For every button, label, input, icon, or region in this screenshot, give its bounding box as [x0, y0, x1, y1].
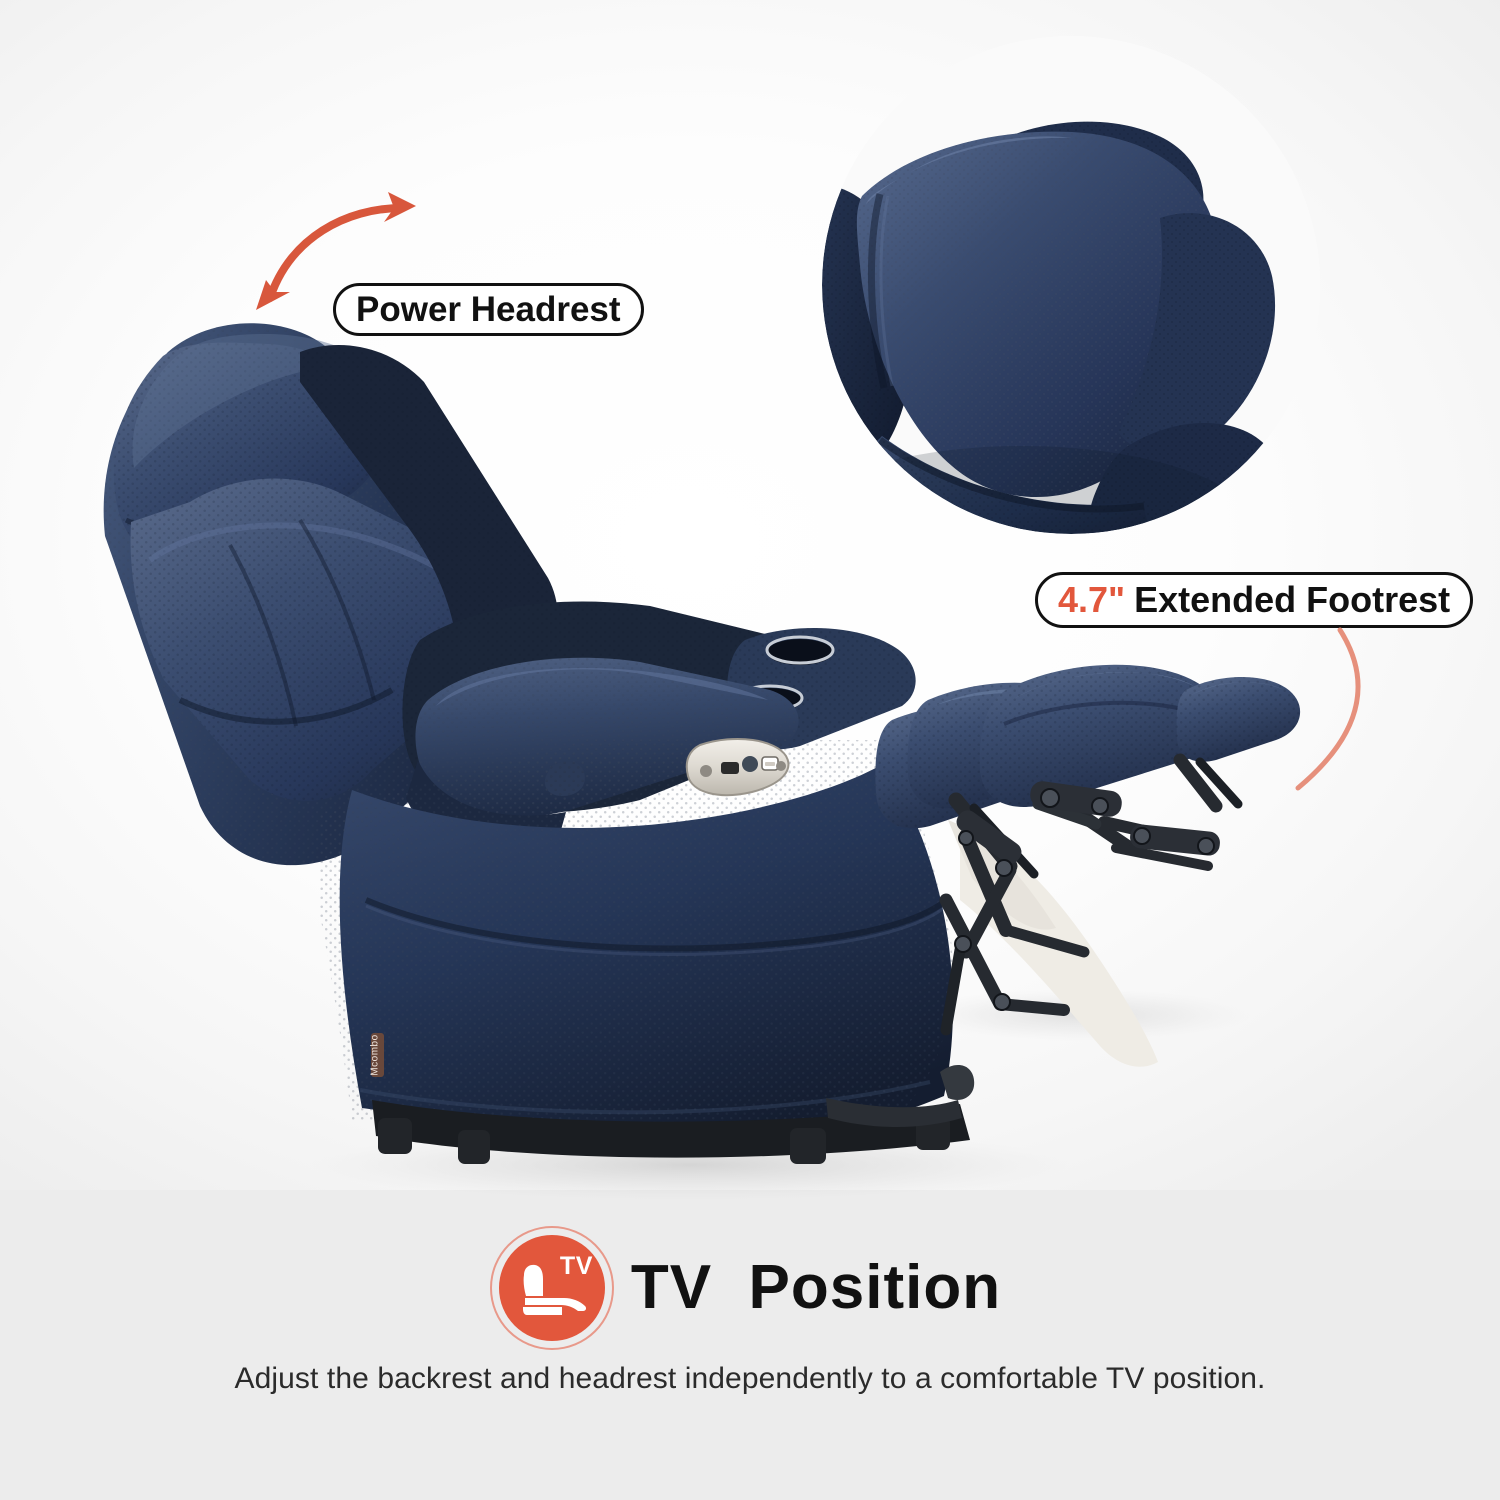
- callout-power-headrest[interactable]: Power Headrest: [333, 283, 644, 336]
- tv-recliner-icon: TV: [499, 1235, 605, 1341]
- tv-badge-text: TV: [560, 1252, 593, 1281]
- callout-footrest-label: Extended Footrest: [1134, 579, 1450, 621]
- panel-button-power: [721, 762, 739, 774]
- page-title: TV Position: [631, 1257, 1001, 1319]
- tv-position-row: TV TV Position: [0, 1228, 1500, 1348]
- base-foot: [790, 1128, 826, 1164]
- panel-button-headrest: [742, 756, 758, 772]
- page-subtitle: Adjust the backrest and headrest indepen…: [0, 1362, 1500, 1396]
- panel-button-left: [700, 765, 712, 777]
- headrest-closeup-inset: [822, 36, 1320, 534]
- product-infographic: Mcombo: [0, 0, 1500, 1500]
- base-foot: [378, 1118, 412, 1154]
- callout-extended-footrest[interactable]: 4.7" Extended Footrest: [1035, 572, 1473, 628]
- svg-text:Mcombo: Mcombo: [370, 1034, 381, 1075]
- callout-footrest-measure: 4.7": [1058, 579, 1125, 621]
- callout-power-headrest-label: Power Headrest: [356, 290, 621, 330]
- base-foot: [458, 1130, 490, 1164]
- cup-holder: [767, 637, 833, 665]
- brand-tag: Mcombo: [370, 1033, 385, 1077]
- panel-button-right: [776, 761, 786, 771]
- extended-footrest: [908, 665, 1301, 808]
